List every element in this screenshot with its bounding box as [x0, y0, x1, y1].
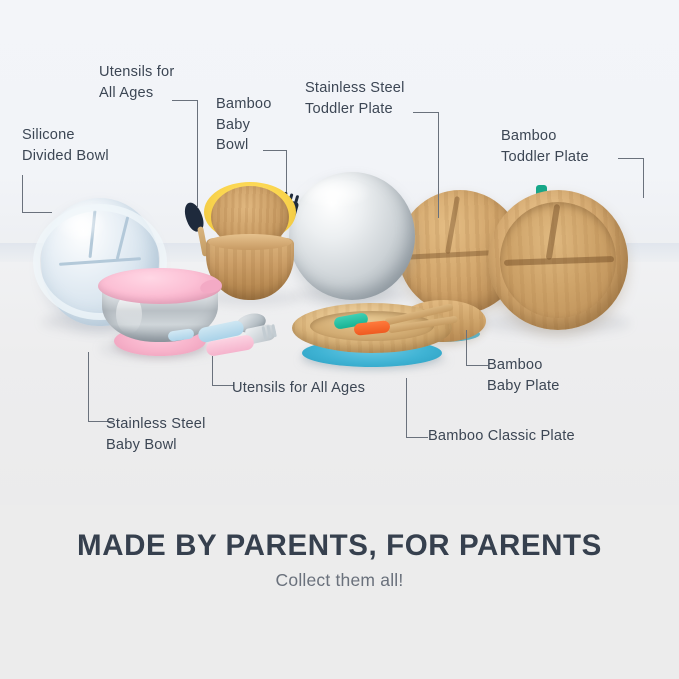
label-stainless-baby-bowl: Stainless Steel Baby Bowl	[106, 414, 206, 455]
label-utensils-all-ages-top: Utensils for All Ages	[99, 62, 174, 103]
label-stainless-toddler-plate: Stainless Steel Toddler Plate	[305, 78, 405, 119]
leader-line-bamboo-classic-plate	[406, 378, 428, 438]
stainless-plate-body	[289, 172, 415, 300]
spoon-icon	[181, 200, 206, 234]
label-bamboo-baby-plate: Bamboo Baby Plate	[487, 355, 560, 396]
infographic-root: Silicone Divided Bowl Utensils for All A…	[0, 0, 679, 679]
subline-text: Collect them all!	[0, 570, 679, 591]
product-stainless-toddler-plate	[289, 172, 415, 300]
caption-block: MADE BY PARENTS, FOR PARENTS Collect the…	[0, 505, 679, 679]
label-bamboo-toddler-plate: Bamboo Toddler Plate	[501, 126, 589, 167]
product-photo-scene: Silicone Divided Bowl Utensils for All A…	[0, 0, 679, 505]
product-utensils-pair	[198, 304, 304, 362]
label-bamboo-baby-bowl: Bamboo Baby Bowl	[216, 94, 272, 156]
product-bamboo-classic-plate	[292, 303, 452, 369]
label-silicone-divided-bowl: Silicone Divided Bowl	[22, 125, 109, 166]
plate-highlight	[297, 178, 371, 208]
headline-text: MADE BY PARENTS, FOR PARENTS	[0, 529, 679, 563]
bamboo-plate-divider	[445, 196, 460, 254]
label-utensils-all-ages-bottom: Utensils for All Ages	[232, 378, 365, 399]
leader-line-stainless-baby-bowl	[88, 352, 114, 422]
label-bamboo-classic-plate: Bamboo Classic Plate	[428, 426, 575, 447]
product-bamboo-toddler-plate-front	[488, 190, 628, 330]
leader-line-utensils-top	[172, 100, 198, 208]
bamboo-plate-body	[488, 190, 628, 330]
